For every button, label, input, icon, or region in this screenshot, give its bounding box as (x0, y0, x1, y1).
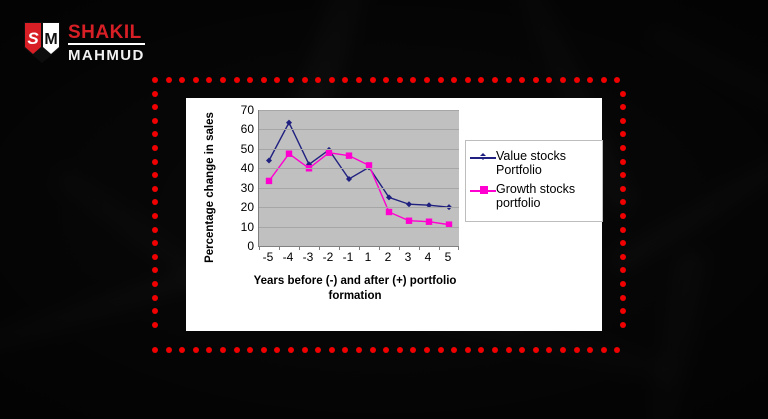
x-axis-tick-label: 1 (365, 250, 372, 264)
frame-dot (152, 145, 158, 151)
frame-dot (261, 77, 267, 83)
frame-dot (193, 77, 199, 83)
frame-dot (152, 347, 158, 353)
frame-dot (315, 77, 321, 83)
frame-dot (620, 118, 626, 124)
frame-dot (574, 347, 580, 353)
frame-dot (620, 322, 626, 328)
x-axis-tick-label: 2 (385, 250, 392, 264)
y-axis-tick-label: 10 (241, 221, 254, 233)
frame-dot (410, 347, 416, 353)
frame-dot (152, 254, 158, 260)
frame-dot (206, 77, 212, 83)
frame-dot (152, 295, 158, 301)
frame-dot (152, 77, 158, 83)
frame-dot (620, 172, 626, 178)
frame-dot (506, 347, 512, 353)
legend-label: Growth stocks portfolio (496, 182, 597, 210)
y-axis-tick-label: 70 (241, 104, 254, 116)
y-axis-tick-label: 20 (241, 201, 254, 213)
frame-dot (193, 347, 199, 353)
frame-dot (166, 347, 172, 353)
frame-dot (620, 227, 626, 233)
frame-dot (329, 347, 335, 353)
frame-dot (274, 347, 280, 353)
frame-dot (370, 77, 376, 83)
frame-dot (506, 77, 512, 83)
frame-dot (519, 77, 525, 83)
frame-dot (533, 347, 539, 353)
legend-item[interactable]: Value stocks Portfolio (470, 149, 597, 177)
frame-dot (614, 347, 620, 353)
frame-dot (356, 77, 362, 83)
gridline (259, 110, 459, 111)
frame-dot (620, 186, 626, 192)
sm-monogram-icon: S M (22, 20, 62, 64)
frame-dot (274, 77, 280, 83)
frame-dot (620, 254, 626, 260)
frame-dot (478, 347, 484, 353)
x-axis-tick-label: 5 (445, 250, 452, 264)
frame-dot (315, 347, 321, 353)
x-axis-tick-label: 3 (405, 250, 412, 264)
chart-legend: Value stocks PortfolioGrowth stocks port… (465, 140, 603, 222)
frame-dot (220, 347, 226, 353)
series-line (269, 123, 449, 208)
frame-dot (152, 281, 158, 287)
frame-dot (560, 347, 566, 353)
frame-dot (397, 77, 403, 83)
frame-dot (620, 91, 626, 97)
frame-dot (152, 159, 158, 165)
frame-dot (302, 347, 308, 353)
frame-dot (152, 308, 158, 314)
x-axis-tick-label: 4 (425, 250, 432, 264)
data-point-marker (286, 120, 292, 126)
frame-dot (234, 77, 240, 83)
y-axis-tick-label: 50 (241, 143, 254, 155)
frame-dot (261, 347, 267, 353)
frame-dot (152, 213, 158, 219)
frame-dot (620, 159, 626, 165)
frame-dot (465, 347, 471, 353)
frame-dot (288, 347, 294, 353)
logo-line-2: MAHMUD (68, 45, 145, 63)
x-axis-tick-label: -2 (323, 250, 334, 264)
frame-dot (601, 347, 607, 353)
frame-dot (370, 347, 376, 353)
frame-dot (620, 145, 626, 151)
frame-dot (424, 77, 430, 83)
gridline (259, 168, 459, 169)
frame-dot (410, 77, 416, 83)
frame-dot (220, 77, 226, 83)
frame-dot (451, 77, 457, 83)
slide-card: Percentage change in sales 0102030405060… (186, 98, 602, 331)
y-axis-tick-labels: 010203040506070 (232, 110, 254, 246)
frame-dot (179, 347, 185, 353)
frame-dot (519, 347, 525, 353)
diamond-marker-icon (470, 150, 496, 166)
x-axis-title: Years before (-) and after (+) portfolio… (226, 274, 484, 304)
frame-dot (620, 104, 626, 110)
gridline (259, 227, 459, 228)
frame-dot (329, 77, 335, 83)
gridline (259, 207, 459, 208)
frame-dot (247, 77, 253, 83)
frame-dot (451, 347, 457, 353)
frame-dot (620, 131, 626, 137)
frame-dot (152, 172, 158, 178)
frame-dot (234, 347, 240, 353)
frame-dot (438, 77, 444, 83)
data-point-marker (266, 158, 272, 164)
frame-dot (383, 347, 389, 353)
frame-dot (424, 347, 430, 353)
frame-dot (342, 77, 348, 83)
frame-dot (302, 77, 308, 83)
svg-text:M: M (44, 31, 57, 48)
frame-dot (152, 240, 158, 246)
data-point-marker (326, 150, 332, 156)
frame-dot (152, 118, 158, 124)
frame-dot (620, 295, 626, 301)
frame-dot (587, 347, 593, 353)
line-chart: Percentage change in sales 0102030405060… (186, 98, 602, 331)
frame-dot (152, 322, 158, 328)
frame-dot (342, 347, 348, 353)
frame-dot (288, 77, 294, 83)
frame-dot (179, 77, 185, 83)
y-axis-tick-label: 40 (241, 162, 254, 174)
frame-dot (397, 347, 403, 353)
frame-dot (620, 199, 626, 205)
plot-area (258, 110, 459, 247)
x-axis-tick-label: -5 (263, 250, 274, 264)
legend-label: Value stocks Portfolio (496, 149, 597, 177)
y-axis-tick-label: 0 (247, 240, 254, 252)
frame-dot (152, 104, 158, 110)
frame-dot (620, 267, 626, 273)
x-axis-tick (458, 246, 459, 250)
data-point-marker (346, 152, 352, 158)
frame-dot (465, 77, 471, 83)
frame-dot (206, 347, 212, 353)
svg-text:S: S (27, 29, 39, 48)
frame-dot (533, 77, 539, 83)
frame-dot (546, 347, 552, 353)
y-axis-tick-label: 60 (241, 123, 254, 135)
y-axis-title: Percentage change in sales (193, 102, 227, 272)
frame-dot (620, 213, 626, 219)
frame-dot (620, 240, 626, 246)
gridline (259, 149, 459, 150)
frame-dot (560, 77, 566, 83)
frame-dot (247, 347, 253, 353)
frame-dot (574, 77, 580, 83)
frame-dot (152, 186, 158, 192)
gridline (259, 188, 459, 189)
frame-dot (152, 91, 158, 97)
data-point-marker (386, 209, 392, 215)
x-axis-tick-labels: -5-4-3-2-112345 (258, 250, 458, 268)
frame-dot (152, 131, 158, 137)
frame-dot (152, 199, 158, 205)
x-axis-tick-label: -4 (283, 250, 294, 264)
frame-dot (614, 77, 620, 83)
data-point-marker (426, 219, 432, 225)
square-marker-icon (470, 183, 496, 199)
frame-dot (620, 281, 626, 287)
data-point-marker (286, 151, 292, 157)
frame-dot (383, 77, 389, 83)
frame-dot (152, 267, 158, 273)
frame-dot (438, 347, 444, 353)
frame-dot (492, 77, 498, 83)
x-axis-tick-label: -3 (303, 250, 314, 264)
data-point-marker (266, 178, 272, 184)
logo-line-1: SHAKIL (68, 23, 145, 45)
frame-dot (601, 77, 607, 83)
frame-dot (478, 77, 484, 83)
plot-wrapper: 010203040506070 -5-4-3-2-112345 (232, 110, 502, 260)
x-axis-tick-label: -1 (343, 250, 354, 264)
frame-dot (546, 77, 552, 83)
y-axis-title-text: Percentage change in sales (204, 112, 217, 263)
gridline (259, 129, 459, 130)
frame-dot (620, 308, 626, 314)
frame-dot (152, 227, 158, 233)
frame-dot (166, 77, 172, 83)
legend-item[interactable]: Growth stocks portfolio (470, 182, 597, 210)
y-axis-tick-label: 30 (241, 182, 254, 194)
data-point-marker (406, 218, 412, 224)
brand-logo: S M SHAKIL MAHMUD (22, 18, 145, 66)
frame-dot (587, 77, 593, 83)
frame-dot (356, 347, 362, 353)
frame-dot (492, 347, 498, 353)
